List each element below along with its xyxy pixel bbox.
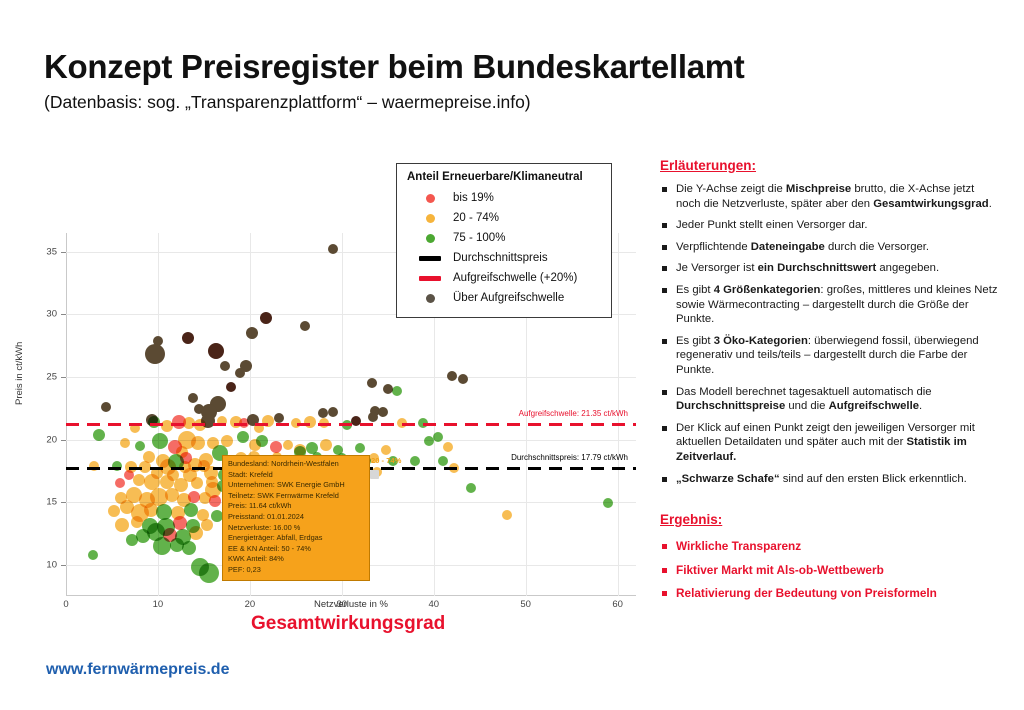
legend-dot-icon bbox=[407, 194, 453, 203]
data-point[interactable] bbox=[381, 445, 391, 455]
data-point[interactable] bbox=[603, 498, 613, 508]
data-point[interactable] bbox=[211, 510, 223, 522]
legend-item-1[interactable]: 20 - 74% bbox=[407, 208, 601, 228]
data-point[interactable] bbox=[328, 407, 338, 417]
legend-item-label: Aufgreifschwelle (+20%) bbox=[453, 272, 577, 284]
data-point[interactable] bbox=[378, 407, 388, 417]
y-tick-mark bbox=[61, 440, 66, 441]
reference-line-label: Durchschnittspreis: 17.79 ct/kWh bbox=[511, 453, 628, 462]
legend-title: Anteil Erneuerbare/Klimaneutral bbox=[407, 171, 601, 183]
y-tick-mark bbox=[61, 502, 66, 503]
data-point[interactable] bbox=[161, 420, 173, 432]
data-point[interactable] bbox=[93, 429, 105, 441]
y-tick-mark bbox=[61, 314, 66, 315]
data-point[interactable] bbox=[447, 371, 457, 381]
explanation-item: Jeder Punkt stellt einen Versorger dar. bbox=[660, 218, 1000, 233]
results-list: Wirkliche TransparenzFiktiver Markt mit … bbox=[660, 539, 1000, 601]
data-point[interactable] bbox=[226, 382, 236, 392]
data-point[interactable] bbox=[237, 431, 249, 443]
gesamtwirkungsgrad-caption: Gesamtwirkungsgrad bbox=[251, 613, 445, 635]
legend-item-label: Über Aufgreifschwelle bbox=[453, 292, 564, 304]
data-point[interactable] bbox=[438, 456, 448, 466]
result-item: Relativierung der Bedeutung von Preisfor… bbox=[660, 586, 1000, 601]
data-point[interactable] bbox=[318, 408, 328, 418]
right-column: Erläuterungen: Die Y-Achse zeigt die Mis… bbox=[660, 158, 1000, 610]
y-tick-label: 15 bbox=[17, 497, 57, 508]
tooltip-line: Energieträger: Abfall, Erdgas bbox=[228, 533, 365, 544]
data-point[interactable] bbox=[433, 432, 443, 442]
data-point[interactable] bbox=[235, 368, 245, 378]
y-tick-label: 35 bbox=[17, 246, 57, 257]
legend-item-2[interactable]: 75 - 100% bbox=[407, 228, 601, 248]
website-link[interactable]: www.fernwärmepreis.de bbox=[46, 661, 229, 679]
legend-item-label: 20 - 74% bbox=[453, 212, 499, 224]
tooltip-line: Stadt: Krefeld bbox=[228, 470, 365, 481]
point-tooltip[interactable]: Bundesland: Nordrhein-WestfalenStadt: Kr… bbox=[222, 455, 370, 581]
tooltip-floating-label: 20 - 74% bbox=[371, 456, 401, 465]
tooltip-line: Preis: 11.64 ct/kWh bbox=[228, 501, 365, 512]
data-point[interactable] bbox=[466, 483, 476, 493]
explanation-item: Es gibt 3 Öko-Kategorien: überwiegend fo… bbox=[660, 334, 1000, 378]
data-point[interactable] bbox=[392, 386, 402, 396]
data-point[interactable] bbox=[458, 374, 468, 384]
data-point[interactable] bbox=[355, 443, 365, 453]
tooltip-line: Netzverluste: 16.00 % bbox=[228, 523, 365, 534]
legend-dot-icon bbox=[407, 214, 453, 223]
y-tick-label: 25 bbox=[17, 371, 57, 382]
data-point[interactable] bbox=[133, 474, 145, 486]
explanation-item: „Schwarze Schafe“ sind auf den ersten Bl… bbox=[660, 472, 1000, 487]
tooltip-line: Teilnetz: SWK Fernwärme Krefeld bbox=[228, 491, 365, 502]
legend-item-label: 75 - 100% bbox=[453, 232, 505, 244]
data-point[interactable] bbox=[205, 482, 221, 498]
page-subtitle: (Datenbasis: sog. „Transparenzplattform“… bbox=[44, 92, 531, 113]
data-point[interactable] bbox=[260, 312, 272, 324]
data-point[interactable] bbox=[502, 510, 512, 520]
tooltip-line: PEF: 0,23 bbox=[228, 565, 365, 576]
gridline-horizontal bbox=[66, 377, 636, 378]
y-tick-label: 10 bbox=[17, 559, 57, 570]
data-point[interactable] bbox=[328, 244, 338, 254]
data-point[interactable] bbox=[184, 503, 198, 517]
data-point[interactable] bbox=[410, 456, 420, 466]
data-point[interactable] bbox=[367, 378, 377, 388]
data-point[interactable] bbox=[182, 332, 194, 344]
tooltip-line: Bundesland: Nordrhein-Westfalen bbox=[228, 459, 365, 470]
data-point[interactable] bbox=[320, 439, 332, 451]
explanation-item: Die Y-Achse zeigt die Mischpreise brutto… bbox=[660, 182, 1000, 211]
slide-root: Konzept Preisregister beim Bundeskartell… bbox=[0, 0, 1024, 710]
data-point[interactable] bbox=[443, 442, 453, 452]
data-point[interactable] bbox=[283, 440, 293, 450]
explanation-item: Es gibt 4 Größenkategorien: großes, mitt… bbox=[660, 283, 1000, 327]
data-point[interactable] bbox=[246, 327, 258, 339]
y-tick-label: 30 bbox=[17, 309, 57, 320]
data-point[interactable] bbox=[208, 343, 224, 359]
legend-dot-icon bbox=[407, 234, 453, 243]
data-point[interactable] bbox=[368, 412, 378, 422]
y-tick-mark bbox=[61, 377, 66, 378]
data-point[interactable] bbox=[126, 534, 138, 546]
data-point[interactable] bbox=[108, 505, 120, 517]
legend-dash-icon bbox=[407, 276, 453, 281]
data-point[interactable] bbox=[115, 478, 125, 488]
data-point[interactable] bbox=[191, 477, 203, 489]
legend-item-label: Durchschnittspreis bbox=[453, 252, 548, 264]
data-point[interactable] bbox=[120, 438, 130, 448]
tooltip-line: Preisstand: 01.01.2024 bbox=[228, 512, 365, 523]
result-item: Fiktiver Markt mit Als-ob-Wettbewerb bbox=[660, 563, 1000, 578]
data-point[interactable] bbox=[152, 433, 168, 449]
data-point[interactable] bbox=[88, 550, 98, 560]
legend-item-3[interactable]: Durchschnittspreis bbox=[407, 248, 601, 268]
reference-line-label: Aufgreifschwelle: 21.35 ct/kWh bbox=[519, 409, 628, 418]
explanations-heading: Erläuterungen: bbox=[660, 158, 1000, 173]
data-point[interactable] bbox=[115, 518, 129, 532]
data-point[interactable] bbox=[189, 526, 203, 540]
data-point[interactable] bbox=[173, 516, 187, 530]
data-point[interactable] bbox=[256, 435, 268, 447]
data-point[interactable] bbox=[182, 541, 196, 555]
data-point[interactable] bbox=[191, 436, 205, 450]
y-axis-line bbox=[66, 233, 67, 596]
explanation-item: Je Versorger ist ein Durchschnittswert a… bbox=[660, 261, 1000, 276]
tooltip-line: Unternehmen: SWK Energie GmbH bbox=[228, 480, 365, 491]
data-point[interactable] bbox=[201, 519, 213, 531]
explanations-list: Die Y-Achse zeigt die Mischpreise brutto… bbox=[660, 182, 1000, 486]
data-point[interactable] bbox=[144, 503, 158, 517]
explanation-item: Der Klick auf einen Punkt zeigt den jewe… bbox=[660, 421, 1000, 465]
page-title: Konzept Preisregister beim Bundeskartell… bbox=[44, 48, 744, 86]
legend-dash-icon bbox=[407, 256, 453, 261]
tooltip-ghost-marker bbox=[370, 470, 379, 479]
data-point[interactable] bbox=[101, 402, 111, 412]
results-heading: Ergebnis: bbox=[660, 512, 1000, 527]
data-point[interactable] bbox=[300, 321, 310, 331]
y-tick-mark bbox=[61, 252, 66, 253]
y-tick-mark bbox=[61, 565, 66, 566]
explanation-item: Das Modell berechnet tagesaktuell automa… bbox=[660, 385, 1000, 414]
data-point[interactable] bbox=[135, 441, 145, 451]
result-item: Wirkliche Transparenz bbox=[660, 539, 1000, 554]
data-point[interactable] bbox=[145, 344, 165, 364]
data-point[interactable] bbox=[199, 563, 219, 583]
data-point[interactable] bbox=[220, 361, 230, 371]
data-point[interactable] bbox=[188, 393, 198, 403]
tooltip-line: EE & KN Anteil: 50 - 74% bbox=[228, 544, 365, 555]
legend-item-label: bis 19% bbox=[453, 192, 494, 204]
legend-item-5[interactable]: Über Aufgreifschwelle bbox=[407, 288, 601, 308]
explanation-item: Verpflichtende Dateneingabe durch die Ve… bbox=[660, 240, 1000, 255]
tooltip-line: KWK Anteil: 84% bbox=[228, 554, 365, 565]
chart-legend: Anteil Erneuerbare/Klimaneutral bis 19%2… bbox=[396, 163, 612, 318]
x-axis-label: Netzverluste in % bbox=[66, 599, 636, 610]
legend-item-0[interactable]: bis 19% bbox=[407, 188, 601, 208]
y-tick-label: 20 bbox=[17, 434, 57, 445]
legend-item-4[interactable]: Aufgreifschwelle (+20%) bbox=[407, 268, 601, 288]
legend-dot-icon bbox=[407, 294, 453, 303]
data-point[interactable] bbox=[153, 537, 171, 555]
x-axis-line bbox=[66, 595, 636, 596]
